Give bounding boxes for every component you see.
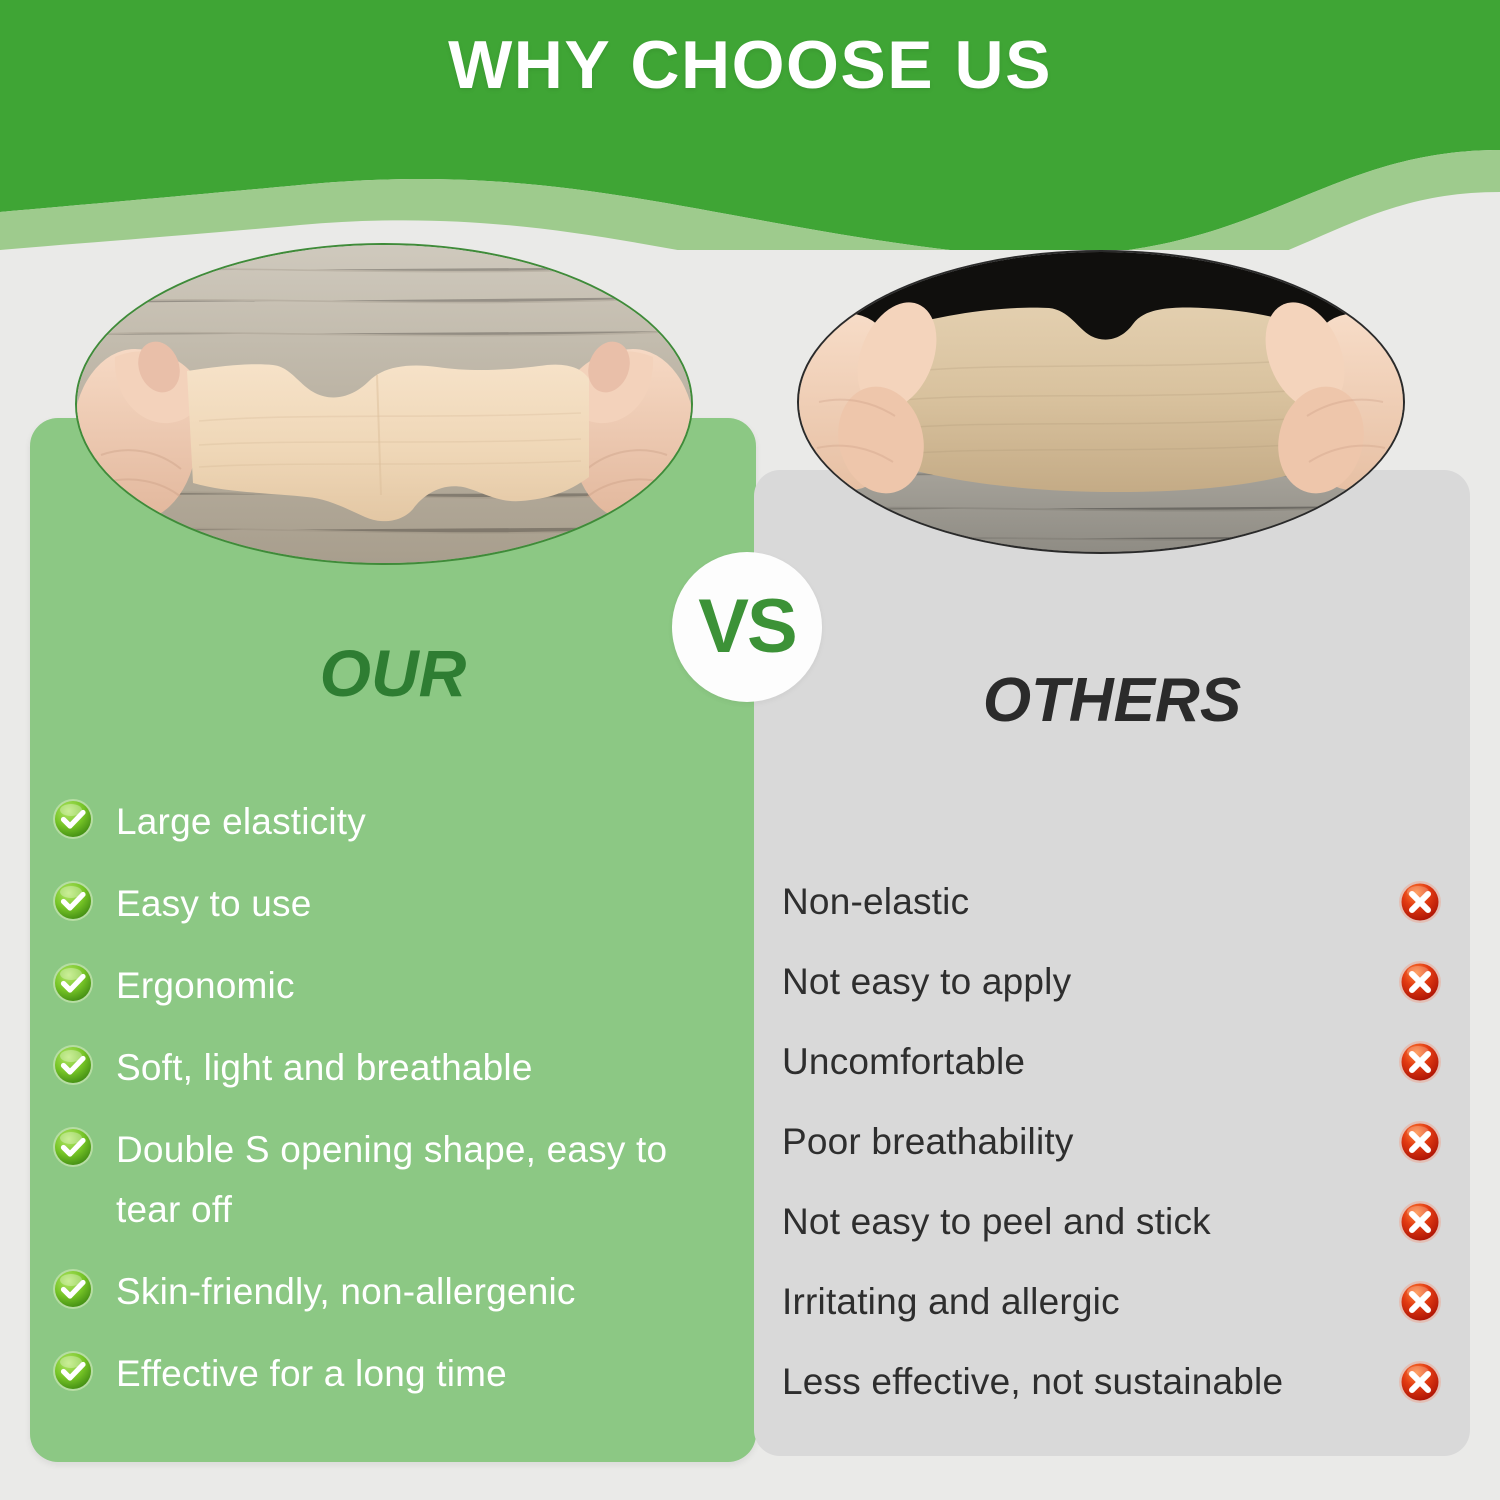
our-product-photo-graphic — [77, 245, 691, 563]
cross-circle-icon — [1398, 1360, 1442, 1404]
list-item: Soft, light and breathable — [52, 1038, 742, 1098]
check-circle-icon — [52, 1126, 94, 1168]
our-feature-list: Large elasticity Easy to use — [52, 792, 742, 1426]
check-circle-icon — [52, 1350, 94, 1392]
why-choose-us-infographic: WHY CHOOSE US — [0, 0, 1500, 1500]
list-item-label: Effective for a long time — [116, 1344, 507, 1404]
list-item-label: Soft, light and breathable — [116, 1038, 533, 1098]
list-item-label: Non-elastic — [782, 880, 969, 924]
cross-circle-icon — [1398, 880, 1442, 924]
list-item: Irritating and allergic — [782, 1262, 1442, 1342]
vs-label: VS — [698, 589, 795, 665]
list-item: Not easy to apply — [782, 942, 1442, 1022]
others-product-photo — [797, 250, 1405, 554]
others-product-photo-graphic — [799, 252, 1403, 552]
list-item: Poor breathability — [782, 1102, 1442, 1182]
cross-circle-icon — [1398, 1120, 1442, 1164]
our-heading: OUR — [30, 640, 756, 706]
list-item-label: Not easy to peel and stick — [782, 1200, 1211, 1244]
check-circle-icon — [52, 962, 94, 1004]
cross-circle-icon — [1398, 1280, 1442, 1324]
cross-circle-icon — [1398, 1200, 1442, 1244]
list-item: Not easy to peel and stick — [782, 1182, 1442, 1262]
page-title: WHY CHOOSE US — [0, 31, 1500, 99]
cross-circle-icon — [1398, 1040, 1442, 1084]
our-product-photo — [75, 243, 693, 565]
others-heading: OTHERS — [754, 670, 1470, 732]
others-drawback-list: Non-elastic No — [782, 862, 1442, 1422]
check-circle-icon — [52, 798, 94, 840]
list-item: Easy to use — [52, 874, 742, 934]
list-item: Non-elastic — [782, 862, 1442, 942]
vs-badge: VS — [672, 552, 822, 702]
list-item-label: Easy to use — [116, 874, 312, 934]
list-item-label: Skin-friendly, non-allergenic — [116, 1262, 576, 1322]
cross-circle-icon — [1398, 960, 1442, 1004]
list-item-label: Not easy to apply — [782, 960, 1071, 1004]
list-item-label: Ergonomic — [116, 956, 295, 1016]
check-circle-icon — [52, 1044, 94, 1086]
list-item: Uncomfortable — [782, 1022, 1442, 1102]
list-item-label: Irritating and allergic — [782, 1280, 1120, 1324]
list-item: Skin-friendly, non-allergenic — [52, 1262, 742, 1322]
check-circle-icon — [52, 1268, 94, 1310]
list-item: Large elasticity — [52, 792, 742, 852]
list-item-label: Poor breathability — [782, 1120, 1074, 1164]
list-item: Effective for a long time — [52, 1344, 742, 1404]
list-item-label: Uncomfortable — [782, 1040, 1025, 1084]
check-circle-icon — [52, 880, 94, 922]
list-item: Double S opening shape, easy to tear off — [52, 1120, 742, 1240]
list-item: Ergonomic — [52, 956, 742, 1016]
list-item-label: Large elasticity — [116, 792, 366, 852]
header-banner: WHY CHOOSE US — [0, 0, 1500, 250]
list-item-label: Double S opening shape, easy to tear off — [116, 1120, 742, 1240]
list-item-label: Less effective, not sustainable — [782, 1360, 1283, 1404]
list-item: Less effective, not sustainable — [782, 1342, 1442, 1422]
